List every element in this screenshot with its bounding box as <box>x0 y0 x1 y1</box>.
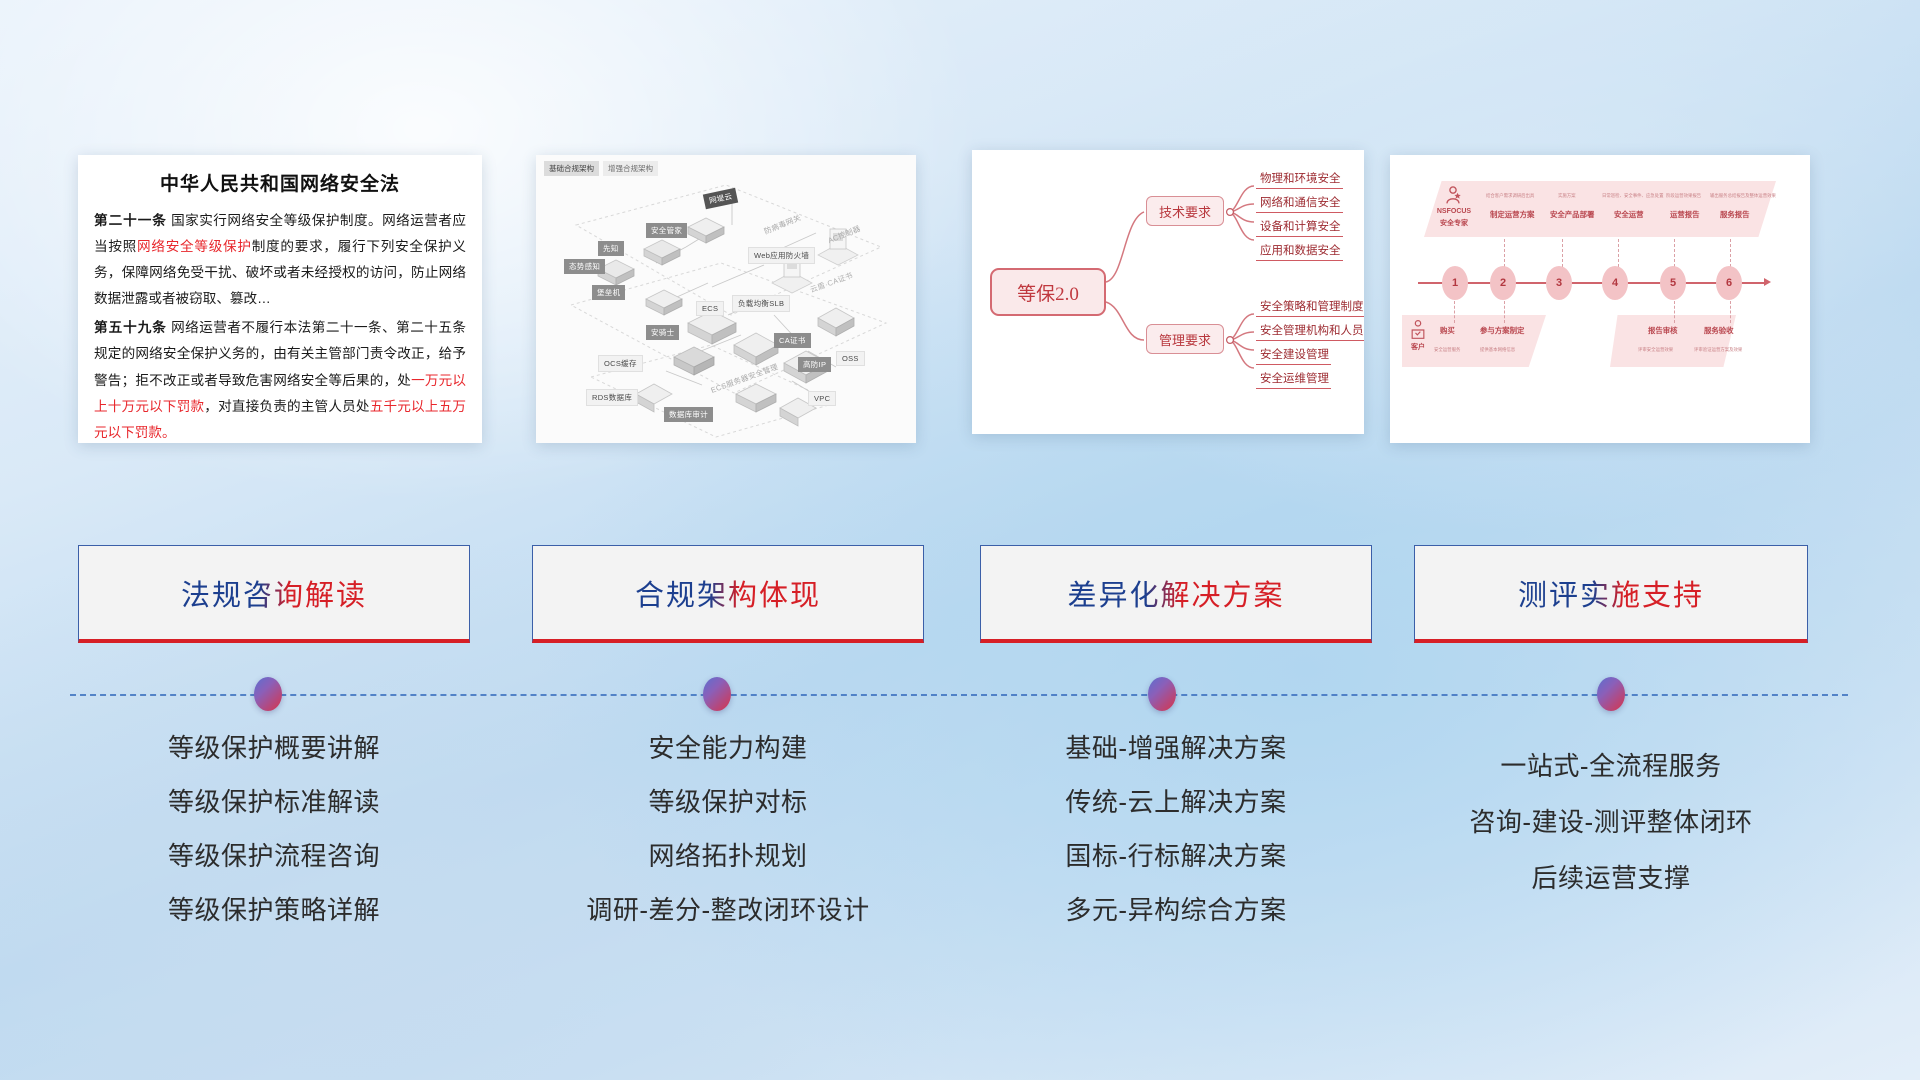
list-item: 等级保护流程咨询 <box>78 843 470 869</box>
mindmap-leaf-physical-env: 物理和环境安全 <box>1256 170 1343 189</box>
top-step-5-label: 服务报告 <box>1720 209 1750 220</box>
node-ocs-cache: OCS缓存 <box>598 355 643 372</box>
mindmap-leaf-org-personnel: 安全管理机构和人员 <box>1256 322 1364 341</box>
top-step-4-sub: 阶段运营效果报告 <box>1666 193 1701 199</box>
list-item: 等级保护对标 <box>532 789 924 815</box>
security-expert-icon <box>1442 185 1464 207</box>
top-step-1-label: 制定运营方案 <box>1490 209 1534 220</box>
category-button-differentiated-solutions[interactable]: 差异化解决方案 <box>980 545 1372 643</box>
timeline-node-1[interactable]: 1 <box>1442 266 1468 300</box>
mindmap-leaf-app-data: 应用和数据安全 <box>1256 242 1343 261</box>
list-item: 一站式-全流程服务 <box>1414 753 1808 779</box>
timeline-node-3[interactable]: 3 <box>1546 266 1572 300</box>
top-step-3-label: 安全运营 <box>1614 209 1644 220</box>
card-nsfocus-service-timeline[interactable]: NSFOCUS 安全专家 结合客户需求调研后出具 制定运营方案 实施方案 安全产… <box>1390 155 1810 443</box>
list-item: 后续运营支撑 <box>1414 865 1808 891</box>
detail-list-regulation-consulting: 等级保护概要讲解 等级保护标准解读 等级保护流程咨询 等级保护策略详解 <box>78 735 470 951</box>
node-situational-awareness: 态势感知 <box>564 259 605 274</box>
bottom-step-4-label: 服务验收 <box>1704 325 1734 336</box>
bottom-step-2-label: 参与方案制定 <box>1480 325 1524 336</box>
bottom-step-1-label: 购买 <box>1440 325 1455 336</box>
bottom-step-2-sub: 提供基本网络信息 <box>1480 347 1515 353</box>
node-anti-ddos-ip: 高防IP <box>798 357 831 372</box>
list-item: 等级保护标准解读 <box>78 789 470 815</box>
node-web-waf: Web应用防火墙 <box>748 247 815 264</box>
category-button-compliance-architecture[interactable]: 合规架构体现 <box>532 545 924 643</box>
category-button-regulation-consulting[interactable]: 法规咨询解读 <box>78 545 470 643</box>
category-buttons-row: 法规咨询解读 合规架构体现 差异化解决方案 测评实施支持 <box>0 545 1920 655</box>
connector-8 <box>1674 301 1675 323</box>
top-step-4-label: 运营报告 <box>1670 209 1700 220</box>
card-cybersecurity-law[interactable]: 中华人民共和国网络安全法 第二十一条 国家实行网络安全等级保护制度。网络运营者应… <box>78 155 482 443</box>
list-item: 安全能力构建 <box>532 735 924 761</box>
category-label-1: 法规咨询解读 <box>181 572 367 614</box>
mindmap-leaf-device-compute: 设备和计算安全 <box>1256 218 1343 237</box>
customer-label: 客户 <box>1404 343 1432 352</box>
detail-lists-row: 等级保护概要讲解 等级保护标准解读 等级保护流程咨询 等级保护策略详解 安全能力… <box>0 735 1920 1015</box>
node-xianzhi: 先知 <box>598 241 624 256</box>
node-database-audit: 数据库审计 <box>664 407 713 422</box>
illustration-cards-row: 中华人民共和国网络安全法 第二十一条 国家实行网络安全等级保护制度。网络运营者应… <box>0 0 1920 460</box>
node-rds-database: RDS数据库 <box>586 389 638 406</box>
top-step-1-sub: 结合客户需求调研后出具 <box>1486 193 1534 199</box>
mindmap-leaf-construction-mgmt: 安全建设管理 <box>1256 346 1331 365</box>
list-item: 基础-增强解决方案 <box>980 735 1372 761</box>
detail-list-assessment-support: 一站式-全流程服务 咨询-建设-测评整体闭环 后续运营支撑 <box>1414 753 1808 921</box>
process-axis <box>70 694 1848 696</box>
category-label-4: 测评实施支持 <box>1518 572 1704 614</box>
axis-marker-3[interactable] <box>1148 677 1176 711</box>
top-step-2-label: 安全产品部署 <box>1550 209 1594 220</box>
node-anqishi: 安骑士 <box>646 325 679 340</box>
card-compliance-architecture[interactable]: 基础合规架构 增强合规架构 <box>536 155 916 443</box>
connector-7 <box>1504 301 1505 323</box>
timeline-node-2[interactable]: 2 <box>1490 266 1516 300</box>
service-timeline: NSFOCUS 安全专家 结合客户需求调研后出具 制定运营方案 实施方案 安全产… <box>1390 155 1810 443</box>
card-dengbao-mindmap[interactable]: 等保2.0 技术要求 物理和环境安全 网络和通信安全 设备和计算安全 应用和数据… <box>972 150 1364 434</box>
connector-3 <box>1618 239 1619 267</box>
timeline-axis <box>1418 282 1766 284</box>
top-step-5-sub: 输出服务总结报告及整体运营效果 <box>1710 193 1776 199</box>
list-item: 网络拓扑规划 <box>532 843 924 869</box>
category-button-assessment-support[interactable]: 测评实施支持 <box>1414 545 1808 643</box>
customer-icon <box>1408 319 1428 341</box>
law-title: 中华人民共和国网络安全法 <box>94 169 466 196</box>
law-body: 中华人民共和国网络安全法 第二十一条 国家实行网络安全等级保护制度。网络运营者应… <box>78 155 482 443</box>
top-step-2-sub: 实施方案 <box>1558 193 1576 199</box>
connector-9 <box>1730 301 1731 323</box>
mindmap: 等保2.0 技术要求 物理和环境安全 网络和通信安全 设备和计算安全 应用和数据… <box>972 150 1364 434</box>
architecture-diagram: 基础合规架构 增强合规架构 <box>536 155 916 443</box>
connector-5 <box>1730 239 1731 267</box>
connector-2 <box>1562 239 1563 267</box>
axis-marker-1[interactable] <box>254 677 282 711</box>
node-security-butler: 安全管家 <box>646 223 687 238</box>
law-article-59-seg-2: ，对直接负责的主管人员处 <box>204 399 369 414</box>
list-item: 等级保护策略详解 <box>78 897 470 923</box>
list-item: 传统-云上解决方案 <box>980 789 1372 815</box>
brand-name-line1: NSFOCUS <box>1426 207 1482 216</box>
law-article-59-number: 第五十九条 <box>94 320 167 335</box>
timeline-node-6[interactable]: 6 <box>1716 266 1742 300</box>
mindmap-branch-technical: 技术要求 <box>1146 196 1224 226</box>
list-item: 国标-行标解决方案 <box>980 843 1372 869</box>
brand-name-line2: 安全专家 <box>1426 219 1482 228</box>
bottom-step-3-label: 报告审核 <box>1648 325 1678 336</box>
list-item: 多元-异构综合方案 <box>980 897 1372 923</box>
law-article-21: 第二十一条 国家实行网络安全等级保护制度。网络运营者应当按照网络安全等级保护制度… <box>94 208 466 312</box>
slide-canvas: 中华人民共和国网络安全法 第二十一条 国家实行网络安全等级保护制度。网络运营者应… <box>0 0 1920 1080</box>
node-slb: 负载均衡SLB <box>732 295 790 312</box>
node-ca-certificate: CA证书 <box>774 333 811 348</box>
mindmap-branch-management: 管理要求 <box>1146 324 1224 354</box>
category-label-3: 差异化解决方案 <box>1067 572 1284 614</box>
mindmap-root-node: 等保2.0 <box>990 268 1106 316</box>
mindmap-leaf-network-comm: 网络和通信安全 <box>1256 194 1343 213</box>
connector-4 <box>1674 239 1675 267</box>
law-article-21-seg-1: 网络安全等级保护 <box>137 239 252 254</box>
bottom-step-3-sub: 评审安全运营效果 <box>1638 347 1673 353</box>
detail-list-differentiated-solutions: 基础-增强解决方案 传统-云上解决方案 国标-行标解决方案 多元-异构综合方案 <box>980 735 1372 951</box>
node-bastion-host: 堡垒机 <box>592 285 625 300</box>
timeline-node-5[interactable]: 5 <box>1660 266 1686 300</box>
axis-marker-2[interactable] <box>703 677 731 711</box>
node-ecs: ECS <box>696 301 724 316</box>
axis-marker-4[interactable] <box>1597 677 1625 711</box>
mindmap-leaf-policy-system: 安全策略和管理制度 <box>1256 298 1364 317</box>
node-oss: OSS <box>836 351 865 366</box>
detail-list-compliance-architecture: 安全能力构建 等级保护对标 网络拓扑规划 调研-差分-整改闭环设计 <box>532 735 924 951</box>
connector-1 <box>1504 239 1505 267</box>
node-vpc: VPC <box>808 391 836 406</box>
mindmap-leaf-ops-mgmt: 安全运维管理 <box>1256 370 1331 389</box>
list-item: 咨询-建设-测评整体闭环 <box>1414 809 1808 835</box>
bottom-step-1-sub: 安全运营服务 <box>1434 347 1460 353</box>
timeline-node-4[interactable]: 4 <box>1602 266 1628 300</box>
list-item: 调研-差分-整改闭环设计 <box>532 897 924 923</box>
list-item: 等级保护概要讲解 <box>78 735 470 761</box>
category-label-2: 合规架构体现 <box>635 572 821 614</box>
timeline-arrow-icon <box>1764 278 1771 286</box>
timeline-bottom-band-right <box>1610 315 1736 367</box>
connector-6 <box>1454 301 1455 323</box>
bottom-step-4-sub: 评审验证运营方案及效果 <box>1694 347 1742 353</box>
law-article-21-number: 第二十一条 <box>94 213 167 228</box>
law-article-59: 第五十九条 网络运营者不履行本法第二十一条、第二十五条规定的网络安全保护义务的，… <box>94 315 466 443</box>
top-step-3-sub: 日常巡检、安全事件、应急处置 <box>1602 193 1663 199</box>
